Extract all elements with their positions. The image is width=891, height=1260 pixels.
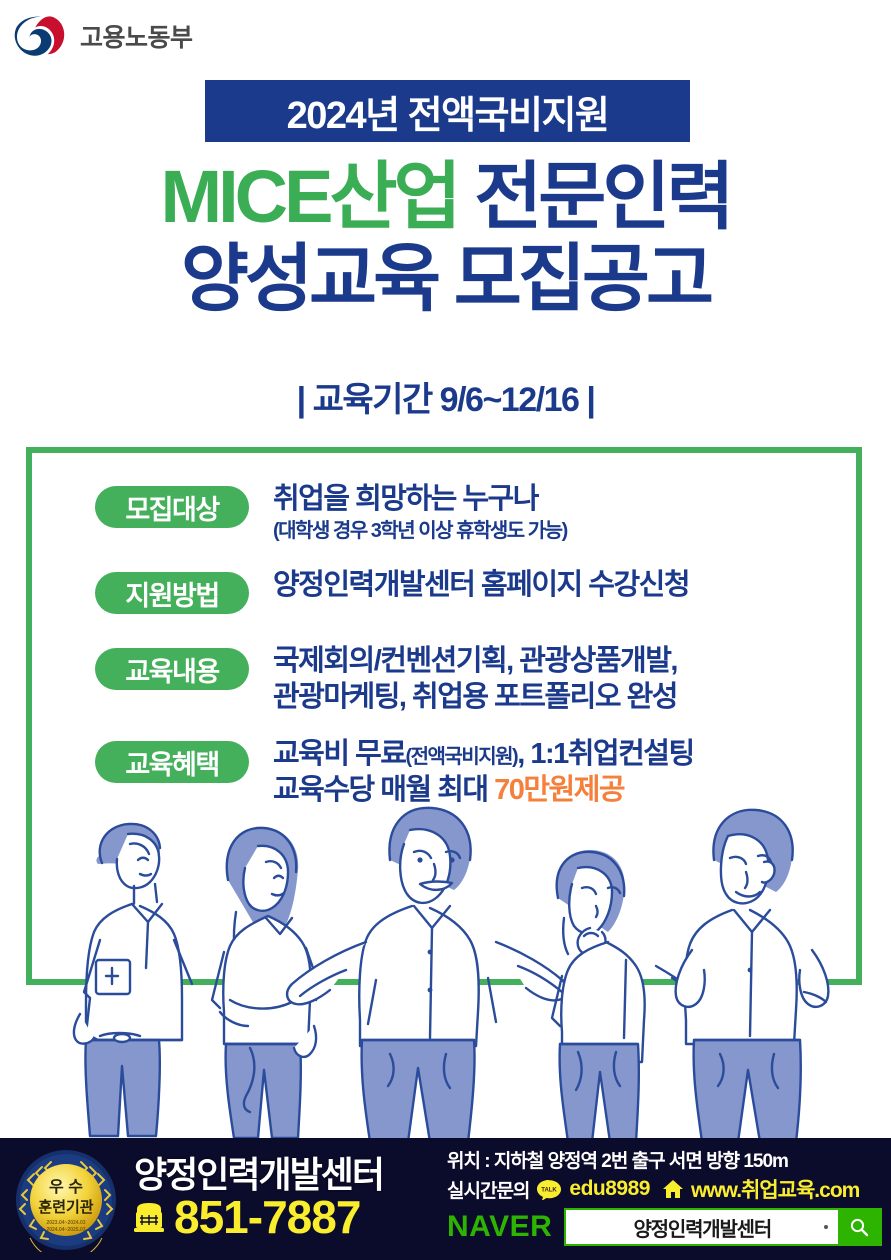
inquiry-line: 실시간문의 TALK edu8989 www.취업교육.com <box>447 1174 859 1204</box>
website-url[interactable]: www.취업교육.com <box>691 1174 859 1204</box>
excellent-training-institution-seal: 우 수 훈련기관 2023.04~2024.03 2024.04~2025.03 <box>14 1148 118 1252</box>
poster-root: 고용노동부 2024년 전액국비지원 MICE산업 전문인력 양성교육 모집공고… <box>0 0 891 1260</box>
headline-专문인력: 전문인력 <box>458 155 731 238</box>
info-rows: 모집대상 취업을 희망하는 누구나 (대학생 경우 3학년 이상 휴학생도 가능… <box>95 482 855 832</box>
headline-mice: MICE산업 <box>160 155 457 238</box>
benefit-allowance-amount: 70만원제공 <box>494 774 624 806</box>
info-row-apply: 지원방법 양정인력개발센터 홈페이지 수강신청 <box>95 568 855 614</box>
kakao-id[interactable]: edu8989 <box>569 1177 650 1201</box>
naver-search-wrap[interactable]: 양정인력개발센터 <box>564 1208 882 1246</box>
info-row-apply-body: 양정인력개발센터 홈페이지 수강신청 <box>273 568 689 603</box>
info-row-benefit-body: 교육비 무료(전액국비지원), 1:1취업컨설팅 교육수당 매월 최대 70만원… <box>273 737 694 808</box>
pill-label-apply: 지원방법 <box>95 572 249 614</box>
target-main: 취업을 희망하는 누구나 <box>273 482 567 517</box>
inquiry-label: 실시간문의 <box>447 1176 529 1203</box>
phone-number[interactable]: 851-7887 <box>174 1194 360 1240</box>
naver-search-input[interactable]: 양정인력개발센터 <box>566 1210 838 1244</box>
naver-search-button[interactable] <box>838 1210 880 1244</box>
benefit-line-2: 교육수당 매월 최대 70만원제공 <box>273 773 694 808</box>
ministry-name: 고용노동부 <box>80 18 193 54</box>
dropdown-dot-icon <box>824 1225 828 1229</box>
headline-line-2: 양성교육 모집공고 <box>0 242 891 316</box>
main-headline: MICE산업 전문인력 양성교육 모집공고 <box>0 160 891 316</box>
benefit-allowance-pre: 교육수당 매월 최대 <box>273 774 494 806</box>
naver-search-query: 양정인력개발센터 <box>633 1213 771 1242</box>
taegeuk-icon <box>12 12 70 60</box>
banner-text: 2024년 전액국비지원 <box>287 84 609 139</box>
svg-text:TALK: TALK <box>542 1187 558 1193</box>
location-text: 위치 : 지하철 양정역 2번 출구 서면 방향 150m <box>447 1146 788 1173</box>
info-row-benefit: 교육혜택 교육비 무료(전액국비지원), 1:1취업컨설팅 교육수당 매월 최대… <box>95 737 855 808</box>
info-row-content-body: 국제회의/컨벤션기획, 관광상품개발, 관광마케팅, 취업용 포트폴리오 완성 <box>273 644 677 715</box>
benefit-line-1: 교육비 무료(전액국비지원), 1:1취업컨설팅 <box>273 737 694 772</box>
home-icon <box>662 1179 684 1199</box>
info-row-target-body: 취업을 희망하는 누구나 (대학생 경우 3학년 이상 휴학생도 가능) <box>273 482 567 544</box>
search-icon <box>849 1217 869 1237</box>
phone-line: 851-7887 <box>132 1194 360 1240</box>
content-main-1: 국제회의/컨벤션기획, 관광상품개발, <box>273 644 677 679</box>
benefit-consulting: , 1:1취업컨설팅 <box>517 738 693 770</box>
telephone-icon <box>132 1200 166 1234</box>
svg-text:2023.04~2024.03: 2023.04~2024.03 <box>46 1220 85 1226</box>
pill-label-benefit: 교육혜택 <box>95 741 249 783</box>
footer-bar: 우 수 훈련기관 2023.04~2024.03 2024.04~2025.03… <box>0 1138 891 1260</box>
info-row-target: 모집대상 취업을 희망하는 누구나 (대학생 경우 3학년 이상 휴학생도 가능… <box>95 482 855 544</box>
headline-line-1: MICE산업 전문인력 <box>0 160 891 234</box>
kakaotalk-icon: TALK <box>536 1179 562 1200</box>
benefit-free: 교육비 무료 <box>273 738 405 770</box>
seal-top-text: 우 수 <box>49 1178 83 1196</box>
info-row-content: 교육내용 국제회의/컨벤션기획, 관광상품개발, 관광마케팅, 취업용 포트폴리… <box>95 644 855 715</box>
naver-logo: NAVER <box>447 1212 552 1242</box>
pill-label-content: 교육내용 <box>95 648 249 690</box>
ministry-logo: 고용노동부 <box>12 12 193 60</box>
naver-search-bar: NAVER 양정인력개발센터 <box>447 1208 882 1246</box>
benefit-free-note: (전액국비지원) <box>405 746 517 768</box>
apply-main: 양정인력개발센터 홈페이지 수강신청 <box>273 568 689 603</box>
svg-text:2024.04~2025.03: 2024.04~2025.03 <box>46 1227 85 1233</box>
target-sub: (대학생 경우 3학년 이상 휴학생도 가능) <box>273 519 567 544</box>
subsidy-banner: 2024년 전액국비지원 <box>205 80 690 142</box>
education-period: | 교육기간 9/6~12/16 | <box>0 372 891 421</box>
pill-label-target: 모집대상 <box>95 486 249 528</box>
content-main-2: 관광마케팅, 취업용 포트폴리오 완성 <box>273 680 677 715</box>
seal-bottom-text: 훈련기관 <box>38 1198 93 1216</box>
